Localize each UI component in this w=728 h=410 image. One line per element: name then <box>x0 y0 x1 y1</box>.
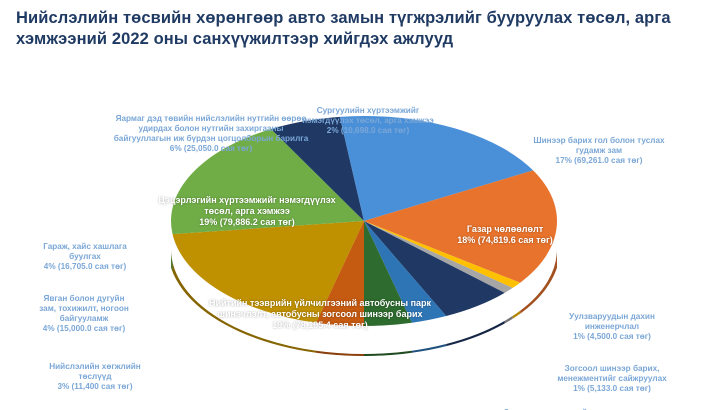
slice-label-6: Явган болон дугуйн зам, тохижилт, ногоон… <box>2 294 166 334</box>
slice-label-5: Нийслэлийн хөгжлийн төслүүд 3% (11,400 с… <box>16 362 174 392</box>
slice-label-11: Сургуулийн хүртээмжийг нэмэгдүүлэх төсөл… <box>292 106 444 136</box>
slice-label-8: Цэцэрлэгийн хүртээмжийг нэмэгдүүлэх төсө… <box>152 195 342 228</box>
pie-side-segment-6 <box>364 351 412 356</box>
title-line-1: Нийслэлийн төсвийн хөрөнгөөр авто замын … <box>16 8 716 29</box>
slice-label-7: Гараж, хайс хашлага буулгах 4% (16,705.0… <box>8 242 162 272</box>
slice-label-2: Уулзваруудын дахин инженерчлал 1% (4,500… <box>498 312 726 342</box>
slice-label-3: Зогсоол шинээр барих, менежментийг сайжр… <box>498 364 726 394</box>
pie-side-segment-5 <box>412 344 446 356</box>
chart-page: Нийслэлийн төсвийн хөрөнгөөр авто замын … <box>0 0 728 410</box>
pie-side-segment-7 <box>316 351 364 356</box>
pie-chart: Шинээр барих гол болон туслах гудамж зам… <box>0 56 728 410</box>
page-title: Нийслэлийн төсвийн хөрөнгөөр авто замын … <box>16 8 716 51</box>
slice-label-10: Яармаг дэд төвийн нийслэлийн нутгийн өөр… <box>98 114 324 154</box>
slice-label-1: Газар чөлөөлөлт 18% (74,819.6 сая төг) <box>438 224 572 246</box>
slice-label-0: Шинээр барих гол болон туслах гудамж зам… <box>474 136 724 166</box>
slice-label-9: Нийтийн тээврийн үйлчилгээний автобусны … <box>172 298 468 331</box>
title-line-2: хэмжээний 2022 оны санхүүжилтээр хийгдэх… <box>16 29 716 50</box>
